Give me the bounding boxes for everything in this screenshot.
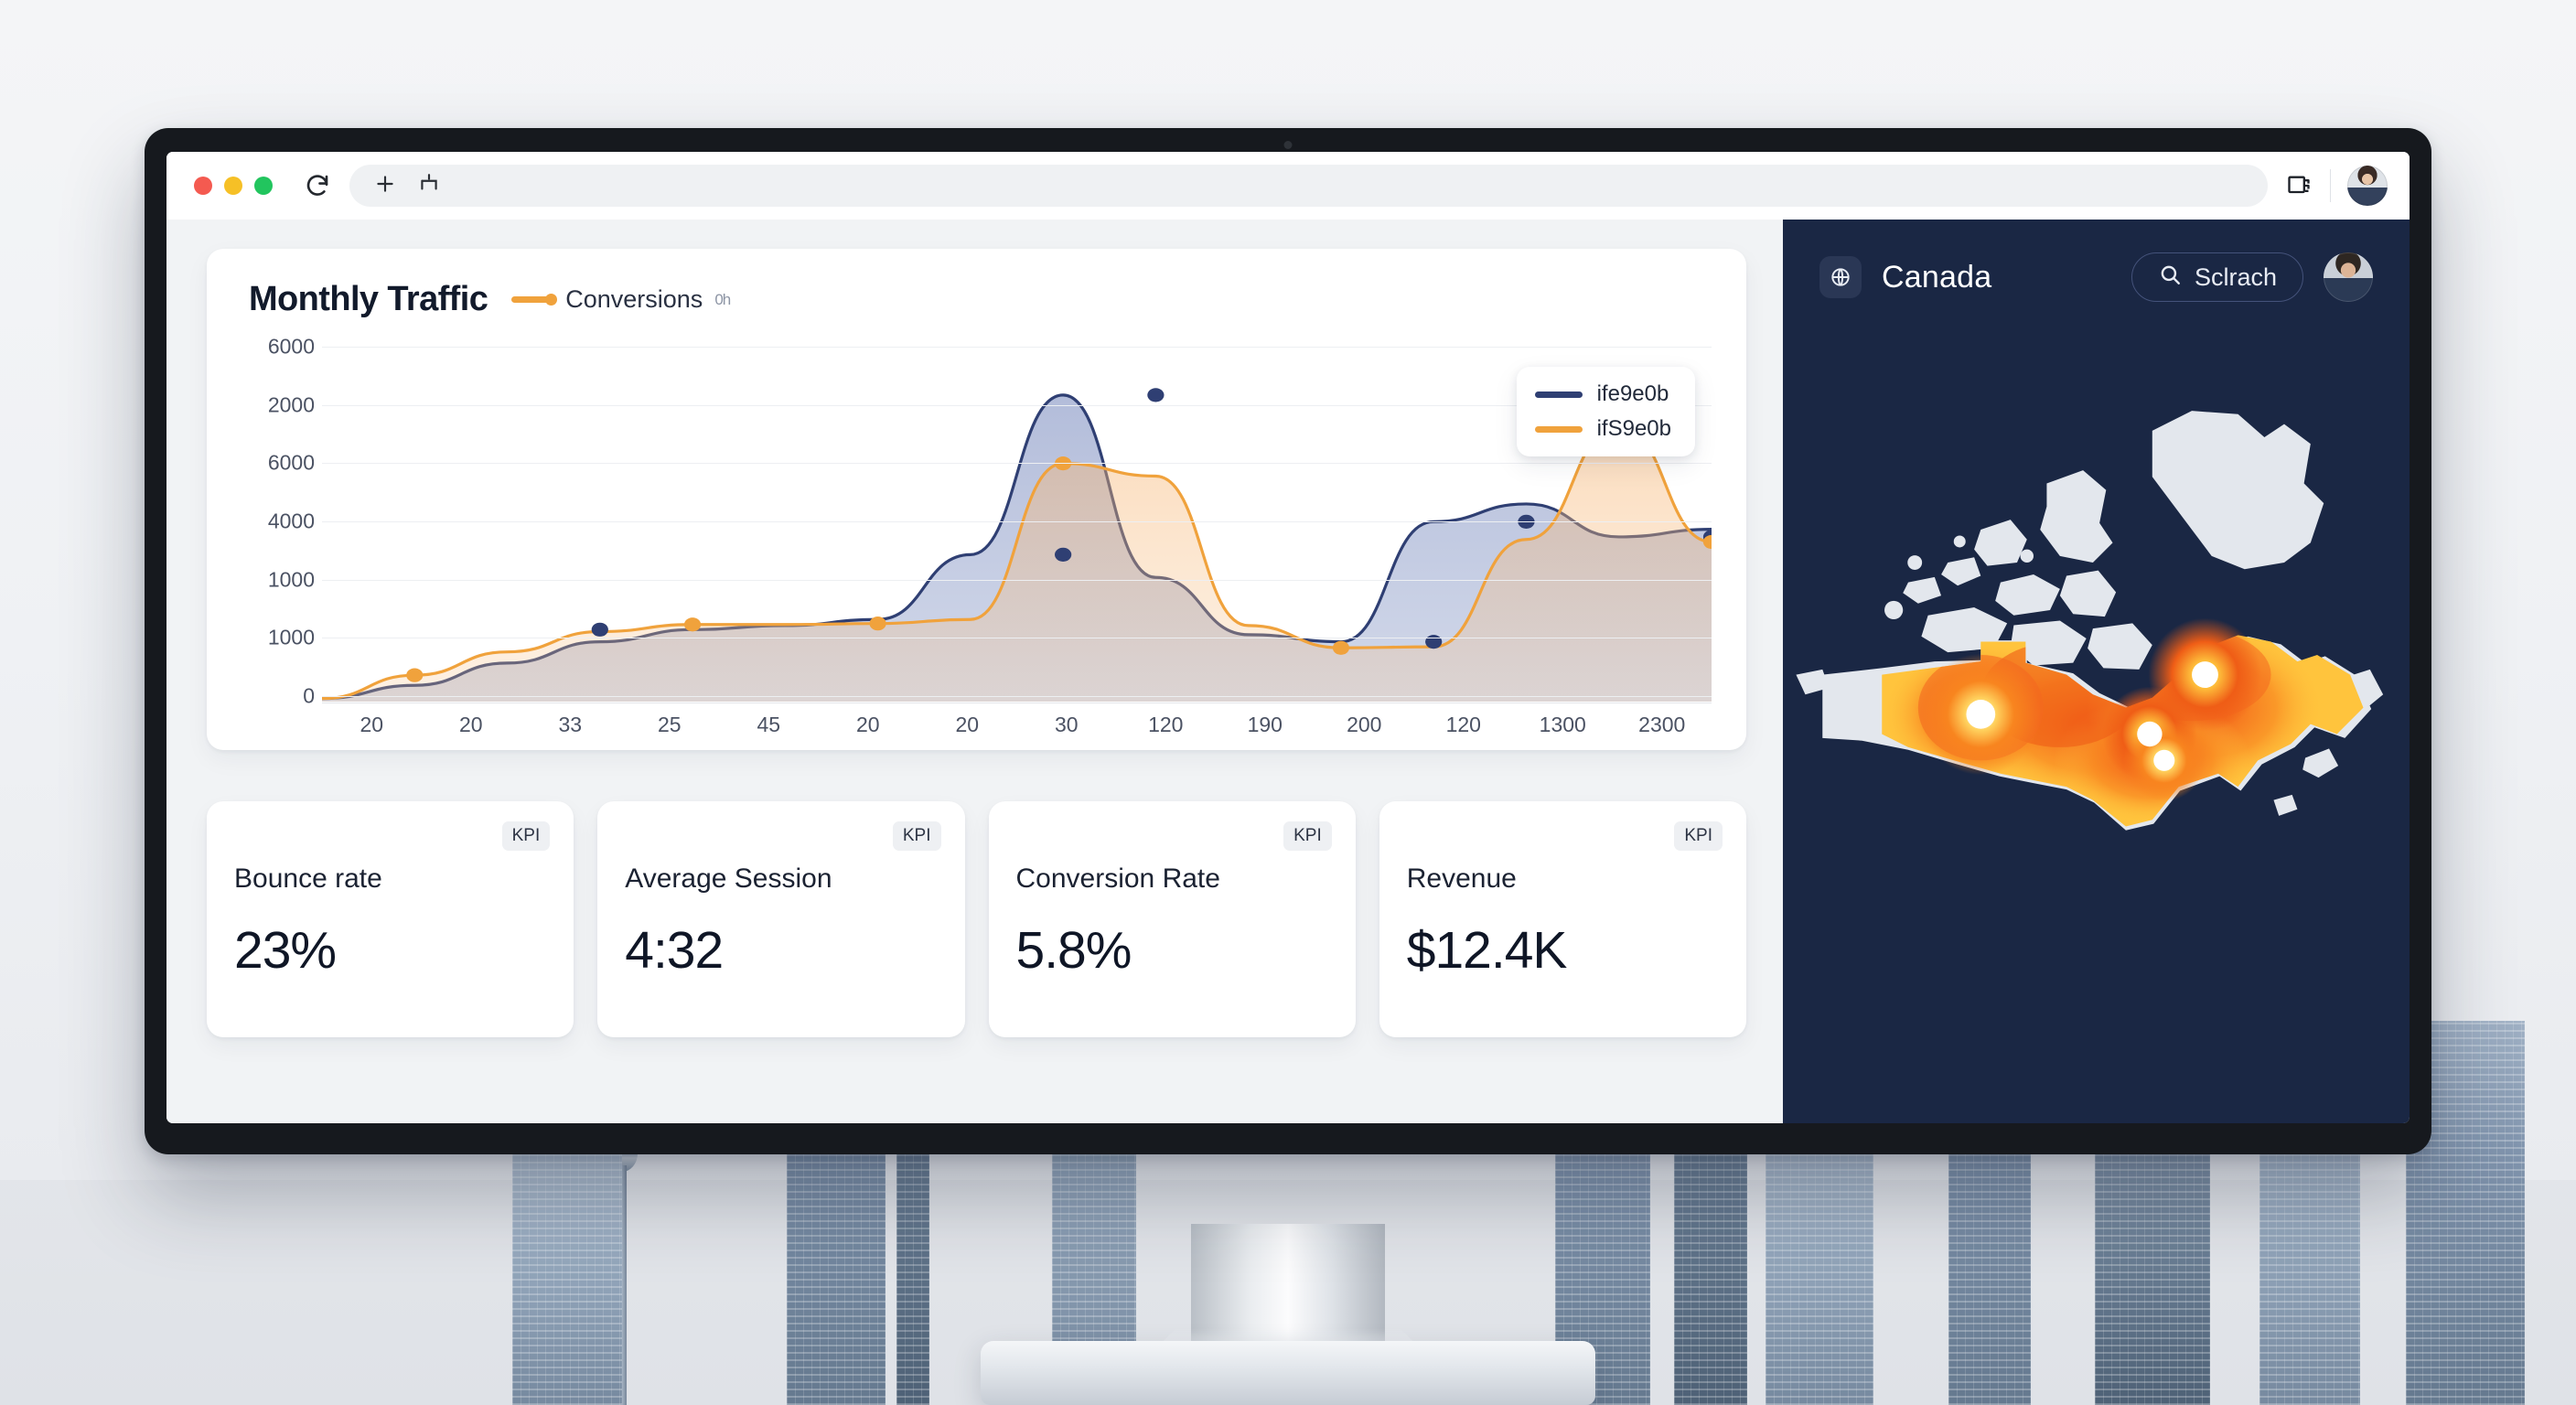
page-title: Monthly Traffic [249,280,488,319]
search-input[interactable]: Sclrach [2131,252,2303,302]
legend-label-2: ifS9e0b [1597,416,1671,442]
webcam-dot [1284,141,1293,149]
kpi-card[interactable]: KPIRevenue$12.4K [1379,801,1746,1037]
legend-label-1: ife9e0b [1597,381,1669,407]
maximize-button[interactable] [254,177,273,195]
x-axis-tick: 20 [918,713,1017,737]
chart-header: Monthly Traffic Conversions 0h [234,280,1712,319]
gridline [322,405,1712,406]
x-axis-tick: 120 [1116,713,1216,737]
x-axis-tick: 120 [1414,713,1514,737]
series-area [322,425,1712,702]
chart-legend-box[interactable]: ife9e0b ifS9e0b [1517,367,1695,456]
plot-area: 6000200060004000100010000 [234,332,1712,703]
search-label: Sclrach [2195,263,2277,292]
kpi-value: 23% [234,920,546,981]
y-axis-tick: 4000 [268,509,315,534]
data-point-marker[interactable] [406,669,423,682]
x-axis-tick: 33 [521,713,620,737]
x-axis: 202033254520203012019020012013002300 [234,703,1712,737]
kpi-card[interactable]: KPIAverage Session4:32 [597,801,964,1037]
status-badge: KPI [502,821,551,851]
data-point-marker[interactable] [684,617,701,631]
y-axis: 6000200060004000100010000 [234,332,322,703]
building [512,1131,622,1405]
x-axis-tick: 2300 [1613,713,1712,737]
reload-icon[interactable] [302,170,333,201]
plus-icon[interactable] [373,172,397,200]
kpi-value: 4:32 [625,920,937,981]
kpi-label: Bounce rate [234,863,546,895]
y-axis-tick: 1000 [268,567,315,592]
data-point-marker[interactable] [869,617,885,630]
screen: Monthly Traffic Conversions 0h 600020006… [166,152,2410,1123]
x-axis-tick: 20 [422,713,521,737]
hotspot-marker[interactable] [2137,722,2162,746]
gridline [322,638,1712,638]
data-point-marker[interactable] [1055,548,1071,562]
bookmark-icon[interactable] [417,172,441,200]
map-pane: Canada Sclrach [1783,220,2410,1123]
x-axis-tick: 45 [719,713,819,737]
kpi-card-row: KPIBounce rate23%KPIAverage Session4:32K… [207,801,1746,1037]
kpi-label: Conversion Rate [1016,863,1328,895]
globe-icon[interactable] [1819,256,1862,298]
gridline [322,580,1712,581]
legend-swatch-orange [1535,426,1583,433]
status-badge: KPI [1283,821,1332,851]
inline-legend[interactable]: Conversions 0h [511,285,730,314]
legend-swatch-navy [1535,391,1583,398]
conversions-swatch [511,296,553,303]
profile-avatar[interactable] [2347,166,2388,206]
data-point-marker[interactable] [1425,635,1442,649]
dashboard-pane: Monthly Traffic Conversions 0h 600020006… [166,220,1783,1123]
gridline [322,696,1712,697]
kpi-label: Revenue [1407,863,1719,895]
x-axis-tick: 20 [819,713,918,737]
toolbar-divider [2330,169,2331,202]
map-header: Canada Sclrach [1819,252,2373,302]
kpi-value: 5.8% [1016,920,1328,981]
map-user-avatar[interactable] [2324,252,2373,302]
plot-canvas [322,332,1712,703]
gridline [322,347,1712,348]
new-window-icon[interactable] [2284,171,2313,200]
inline-legend-label: Conversions [565,285,703,314]
data-point-marker[interactable] [1333,641,1349,655]
kpi-label: Average Session [625,863,937,895]
canada-heatmap[interactable] [1783,220,2410,1123]
gridline [322,521,1712,522]
y-axis-tick: 1000 [268,626,315,650]
status-badge: KPI [1674,821,1723,851]
legend-row[interactable]: ife9e0b [1535,381,1671,407]
monitor-stand-base [981,1341,1595,1405]
building [2095,1131,2210,1405]
data-point-marker[interactable] [1147,388,1164,402]
address-bar[interactable] [349,165,2268,207]
map-title: Canada [1882,260,1991,295]
hotspot-marker[interactable] [2153,750,2174,771]
browser-toolbar [166,152,2410,220]
x-axis-tick: 25 [620,713,720,737]
close-button[interactable] [194,177,212,195]
y-axis-tick: 6000 [268,335,315,359]
page-content: Monthly Traffic Conversions 0h 600020006… [166,220,2410,1123]
legend-row[interactable]: ifS9e0b [1535,416,1671,442]
y-axis-tick: 6000 [268,451,315,476]
y-axis-tick: 2000 [268,392,315,417]
kpi-card[interactable]: KPIConversion Rate5.8% [989,801,1356,1037]
x-axis-tick: 200 [1315,713,1414,737]
search-icon [2158,263,2182,293]
x-axis-tick: 20 [322,713,422,737]
hotspot-marker[interactable] [1966,700,1995,729]
data-point-marker[interactable] [592,623,608,637]
toolbar-actions [2284,166,2388,206]
monitor-bezel: Monthly Traffic Conversions 0h 600020006… [145,128,2431,1154]
kpi-value: $12.4K [1407,920,1719,981]
x-axis-tick: 190 [1216,713,1315,737]
monthly-traffic-card: Monthly Traffic Conversions 0h 600020006… [207,249,1746,750]
status-badge: KPI [893,821,941,851]
kpi-card[interactable]: KPIBounce rate23% [207,801,574,1037]
minimize-button[interactable] [224,177,242,195]
window-controls[interactable] [194,177,273,195]
hotspot-marker[interactable] [2192,661,2218,688]
inline-legend-sub: 0h [714,291,730,309]
gridline [322,463,1712,464]
x-axis-tick: 1300 [1513,713,1613,737]
canada-map-svg [1783,220,2410,1123]
area-chart-svg [322,332,1712,703]
x-axis-tick: 30 [1017,713,1117,737]
y-axis-tick: 0 [303,684,315,709]
